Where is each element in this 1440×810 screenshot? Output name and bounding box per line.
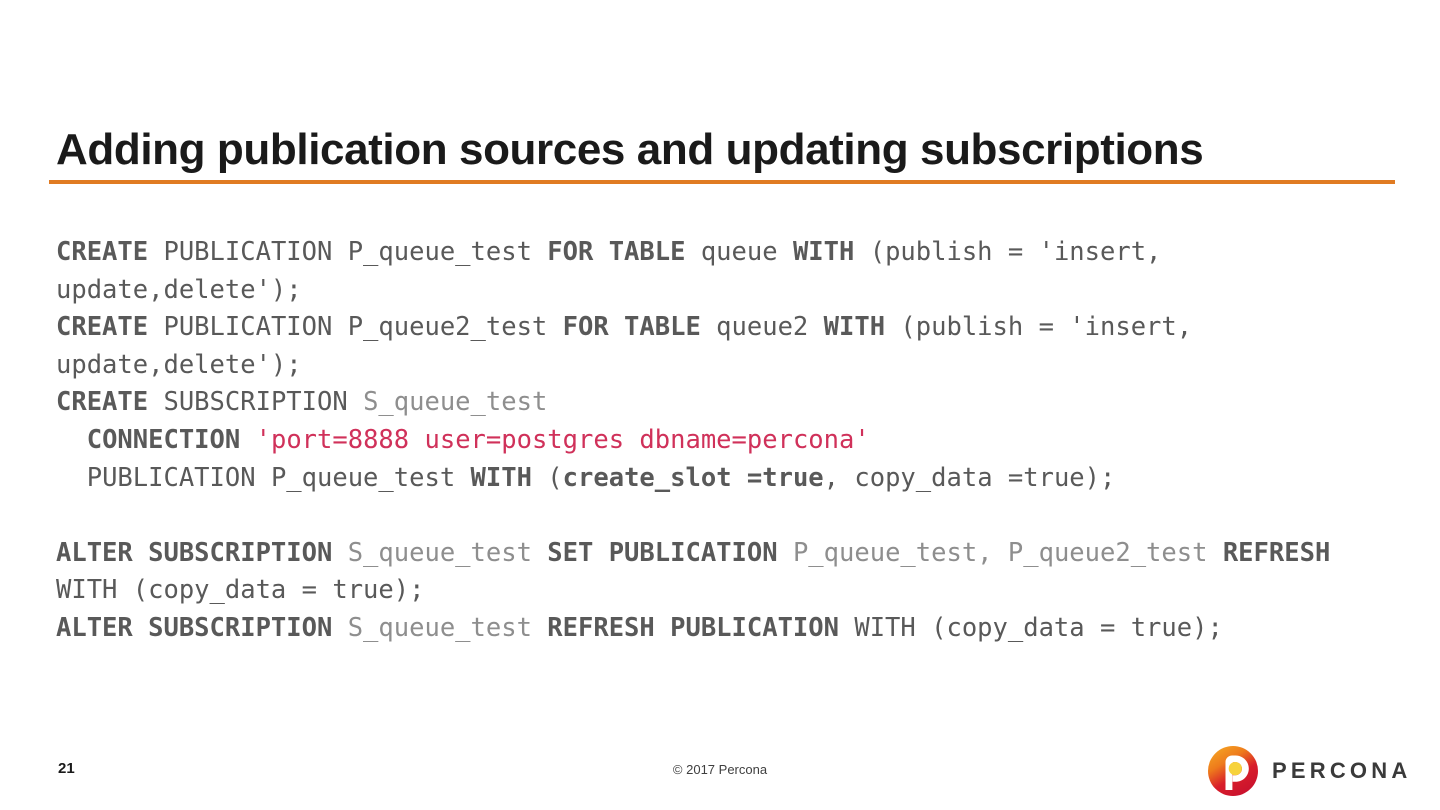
code-token bbox=[532, 613, 547, 643]
code-token: REFRESH PUBLICATION bbox=[547, 613, 839, 643]
code-token: WITH bbox=[471, 463, 532, 493]
code-token: P_queue_test, P_queue2_test bbox=[793, 538, 1208, 568]
code-token: queue bbox=[685, 237, 792, 267]
code-token bbox=[240, 425, 255, 455]
line-alter-set-publication: ALTER SUBSCRIPTION S_queue_test SET PUBL… bbox=[56, 535, 1406, 610]
percona-logo: PERCONA bbox=[1207, 744, 1402, 798]
page-title: Adding publication sources and updating … bbox=[56, 125, 1396, 176]
code-token: WITH bbox=[824, 312, 885, 342]
code-token: SET PUBLICATION bbox=[547, 538, 777, 568]
line-publication-with: PUBLICATION P_queue_test WITH (create_sl… bbox=[56, 460, 1406, 498]
line-connection: CONNECTION 'port=8888 user=postgres dbna… bbox=[56, 422, 1406, 460]
code-token: CONNECTION bbox=[87, 425, 241, 455]
code-token: ( bbox=[532, 463, 563, 493]
code-token: create_slot =true bbox=[563, 463, 824, 493]
title-divider bbox=[49, 180, 1395, 184]
code-token bbox=[332, 538, 347, 568]
code-token: CREATE bbox=[56, 237, 148, 267]
percona-p-mark-icon bbox=[1207, 745, 1259, 797]
code-token: PUBLICATION P_queue2_test bbox=[148, 312, 563, 342]
code-token: FOR TABLE bbox=[547, 237, 685, 267]
line-create-publication-1: CREATE PUBLICATION P_queue_test FOR TABL… bbox=[56, 234, 1406, 309]
code-token bbox=[778, 538, 793, 568]
slide-root: Adding publication sources and updating … bbox=[0, 0, 1440, 810]
code-token: S_queue_test bbox=[348, 613, 532, 643]
code-token: ALTER SUBSCRIPTION bbox=[56, 613, 332, 643]
code-token bbox=[1207, 538, 1222, 568]
code-token: REFRESH bbox=[1223, 538, 1330, 568]
code-token: PUBLICATION P_queue_test bbox=[148, 237, 547, 267]
code-token: S_queue_test bbox=[363, 387, 547, 417]
code-token: SUBSCRIPTION bbox=[148, 387, 363, 417]
code-token: queue2 bbox=[701, 312, 824, 342]
code-token: WITH (copy_data = true); bbox=[839, 613, 1223, 643]
line-alter-refresh-publication: ALTER SUBSCRIPTION S_queue_test REFRESH … bbox=[56, 610, 1406, 648]
code-token bbox=[56, 425, 87, 455]
code-token: S_queue_test bbox=[348, 538, 532, 568]
code-token: WITH bbox=[793, 237, 854, 267]
code-token bbox=[332, 613, 347, 643]
code-token: CREATE bbox=[56, 312, 148, 342]
code-token: CREATE bbox=[56, 387, 148, 417]
percona-wordmark: PERCONA bbox=[1272, 758, 1411, 784]
code-token: , copy_data =true); bbox=[824, 463, 1116, 493]
code-token: FOR TABLE bbox=[563, 312, 701, 342]
line-create-subscription: CREATE SUBSCRIPTION S_queue_test bbox=[56, 384, 1406, 422]
code-token: ALTER SUBSCRIPTION bbox=[56, 538, 332, 568]
code-token: 'port=8888 user=postgres dbname=percona' bbox=[256, 425, 870, 455]
code-token: PUBLICATION P_queue_test bbox=[56, 463, 471, 493]
code-block: CREATE PUBLICATION P_queue_test FOR TABL… bbox=[56, 234, 1406, 648]
line-blank bbox=[56, 497, 1406, 535]
line-create-publication-2: CREATE PUBLICATION P_queue2_test FOR TAB… bbox=[56, 309, 1406, 384]
code-token bbox=[532, 538, 547, 568]
